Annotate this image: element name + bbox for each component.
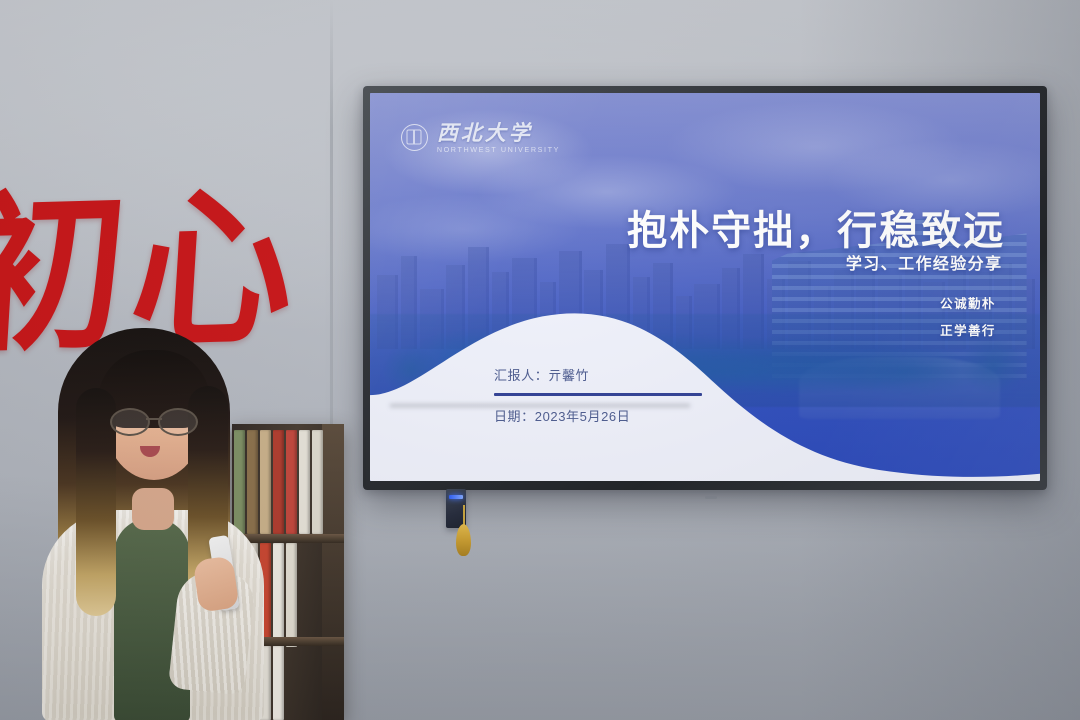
neck [132, 488, 174, 530]
wall-hook [705, 496, 717, 499]
tv-bottom-shadow [390, 404, 690, 409]
shelf-side-panel [322, 424, 344, 720]
university-logo: 西北大学 NORTHWEST UNIVERSITY [401, 122, 560, 153]
slide-title: 抱朴守拙，行稳致远 [627, 198, 1005, 256]
motto-line-2: 正学善行 [940, 320, 996, 339]
motto-line-1: 公诚勤朴 [940, 293, 996, 312]
university-emblem-icon [401, 124, 428, 151]
slide-meta-block: 汇报人：亓馨竹 日期：2023年5月26日 [494, 365, 715, 425]
presenter-line: 汇报人：亓馨竹 [494, 365, 715, 384]
presenter [36, 322, 272, 720]
wall-mounted-tv[interactable]: 西北大学 NORTHWEST UNIVERSITY 抱朴守拙，行稳致远 学习、工… [363, 86, 1047, 490]
decorative-tassel [456, 524, 471, 556]
tv-screen[interactable]: 西北大学 NORTHWEST UNIVERSITY 抱朴守拙，行稳致远 学习、工… [370, 93, 1040, 481]
university-name-cn: 西北大学 [437, 122, 560, 143]
power-led-icon [449, 495, 463, 499]
meta-divider [494, 393, 702, 396]
glasses-icon [108, 408, 200, 432]
slide-subtitle: 学习、工作经验分享 [846, 250, 1003, 274]
university-name-en: NORTHWEST UNIVERSITY [437, 146, 560, 153]
room-photo-scene: 初心 [0, 0, 1080, 720]
